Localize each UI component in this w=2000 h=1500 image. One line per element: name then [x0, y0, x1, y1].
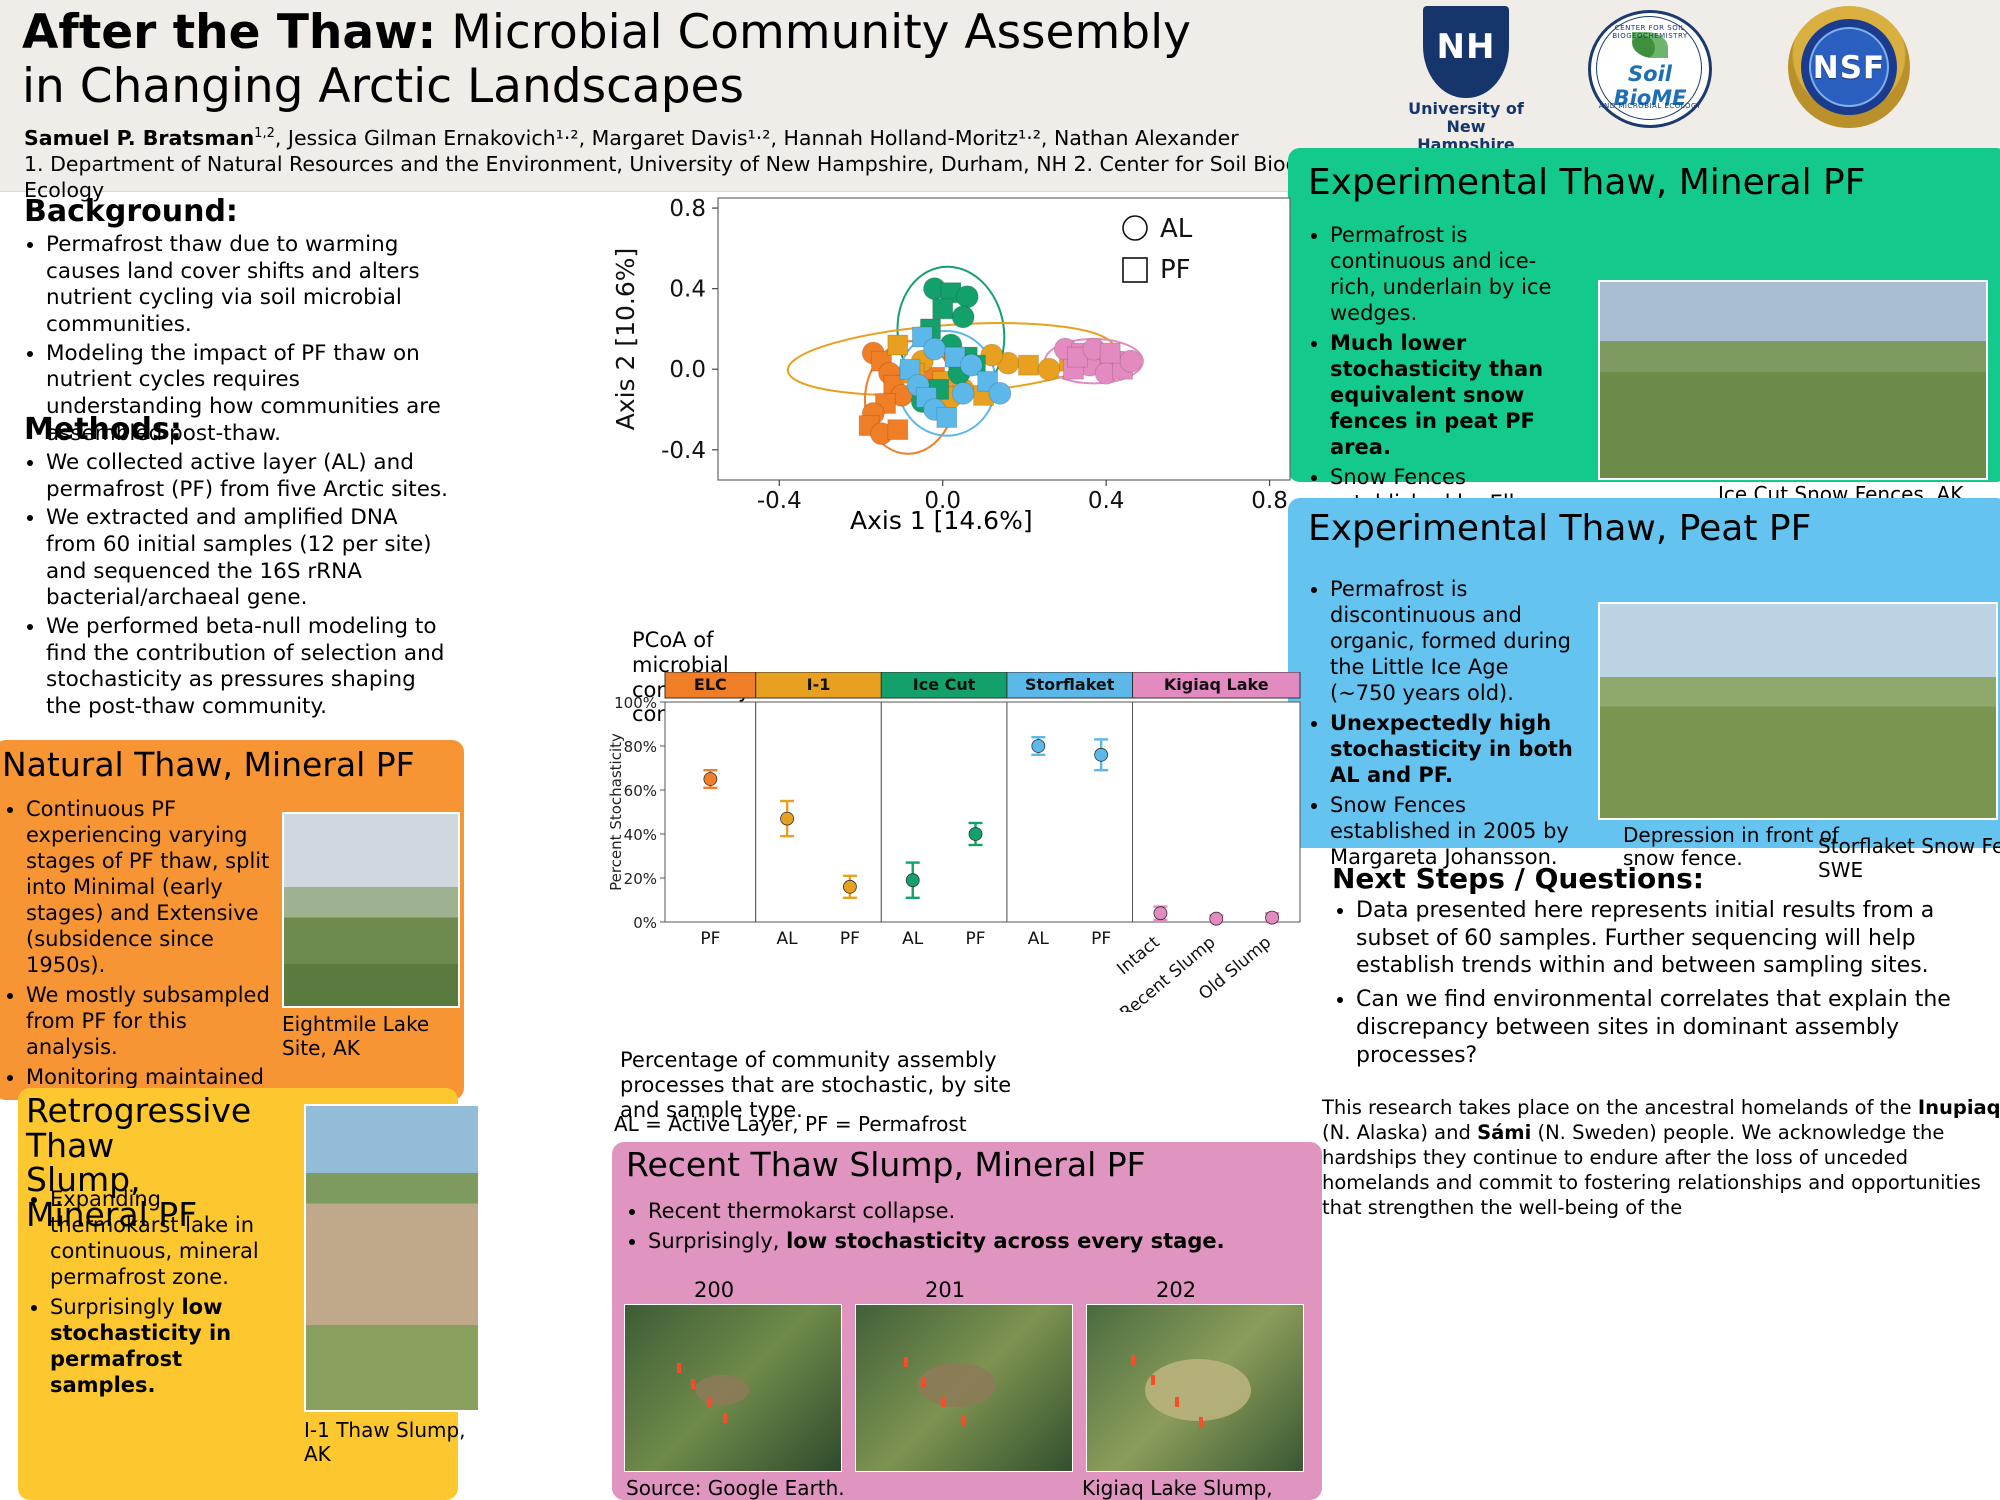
svg-text:PF: PF [1160, 255, 1191, 285]
methods-list: We collected active layer (AL) and perma… [24, 449, 454, 721]
unh-shield-icon: NH [1423, 6, 1509, 98]
svg-text:Kigiaq Lake: Kigiaq Lake [1164, 675, 1269, 694]
svg-text:-0.4: -0.4 [661, 438, 706, 464]
experimental-peat-heading: Experimental Thaw, Peat PF [1308, 510, 1948, 548]
page-title-line2: in Changing Arctic Landscapes [22, 62, 1422, 113]
google-earth-image-2 [855, 1304, 1073, 1472]
svg-text:AL: AL [902, 929, 924, 949]
stochasticity-chart: 0%20%40%60%80%100%Percent StochasticityE… [595, 672, 1305, 1032]
google-earth-image-1 [624, 1304, 842, 1472]
kigiaq-lake-caption: Kigiaq Lake Slump, [1082, 1476, 1273, 1500]
next-steps-heading: Next Steps / Questions: [1332, 862, 2000, 895]
next-steps-section: Next Steps / Questions: Data presented h… [1332, 862, 2000, 1075]
ack-bold-1: Inupiaq [1918, 1096, 2000, 1119]
title-rest: Microbial Community Assembly [436, 5, 1191, 60]
svg-text:PF: PF [1091, 929, 1111, 949]
svg-text:80%: 80% [624, 738, 657, 756]
soil-biome-logo: CENTER FOR SOIL BIOGEOCHEMISTRY Soil Bio… [1588, 10, 1712, 128]
soil-biome-bottom-text: AND MICROBIAL ECOLOGY [1588, 102, 1712, 110]
list-item: We collected active layer (AL) and perma… [46, 449, 454, 503]
ack-part-2: (N. Alaska) and [1322, 1121, 1477, 1144]
nsf-wordmark: NSF [1788, 50, 1910, 86]
title-bold: After the Thaw: [22, 5, 436, 60]
svg-text:AL: AL [777, 929, 799, 949]
svg-text:Ice Cut: Ice Cut [913, 675, 976, 694]
svg-text:0.4: 0.4 [1088, 488, 1125, 514]
retrogressive-list: Expanding thermokarst lake in continuous… [28, 1186, 288, 1402]
svg-text:Intact: Intact [1113, 932, 1164, 979]
list-item: Surprisingly, low stochasticity across e… [648, 1228, 1316, 1254]
pcoa-svg: -0.40.00.40.8-0.40.00.40.8Axis 2 [10.6%]… [600, 190, 1300, 520]
svg-text:Axis 2 [10.6%]: Axis 2 [10.6%] [611, 248, 640, 431]
author-rest: , Jessica Gilman Ernakovich¹·², Margaret… [275, 126, 1239, 150]
list-item: Permafrost is continuous and ice-rich, u… [1330, 222, 1578, 326]
list-item: We performed beta-null modeling to find … [46, 613, 454, 721]
ge-year-label: 202 [1156, 1278, 1196, 1302]
storflaket-photo [1598, 602, 1998, 820]
list-item: Recent thermokarst collapse. [648, 1198, 1316, 1224]
methods-section: Methods: We collected active layer (AL) … [24, 412, 454, 722]
recent-slump-heading: Recent Thaw Slump, Mineral PF [626, 1148, 1146, 1183]
list-item: Snow Fences established in 2005 by Marga… [1330, 792, 1578, 870]
experimental-mineral-panel: Experimental Thaw, Mineral PF Permafrost… [1288, 148, 2000, 482]
natural-thaw-panel: Natural Thaw, Mineral PF Continuous PF e… [0, 740, 464, 1100]
ice-cut-photo [1598, 280, 1988, 480]
next-steps-list: Data presented here represents initial r… [1332, 897, 2000, 1069]
i1-thaw-slump-caption: I-1 Thaw Slump, AK [304, 1418, 494, 1466]
list-item: Permafrost thaw due to warming causes la… [46, 231, 444, 339]
svg-text:0%: 0% [633, 914, 657, 932]
recent-slump-list: Recent thermokarst collapse. Surprisingl… [626, 1198, 1316, 1258]
experimental-peat-list: Permafrost is discontinuous and organic,… [1308, 576, 1578, 874]
retrogressive-thaw-panel: Retrogressive Thaw Slump, Mineral PF Exp… [18, 1088, 458, 1500]
eightmile-lake-photo [282, 812, 460, 1008]
google-earth-source: Source: Google Earth. [626, 1476, 845, 1500]
ack-part-1: This research takes place on the ancestr… [1322, 1096, 1918, 1119]
natural-thaw-list: Continuous PF experiencing varying stage… [4, 796, 274, 1120]
pcoa-chart: -0.40.00.40.8-0.40.00.40.8Axis 2 [10.6%]… [600, 190, 1300, 540]
list-item: We mostly subsampled from PF for this an… [26, 982, 274, 1060]
background-section: Background: Permafrost thaw due to warmi… [24, 194, 444, 448]
svg-text:PF: PF [700, 929, 720, 949]
list-item: Expanding thermokarst lake in continuous… [50, 1186, 288, 1290]
svg-text:I-1: I-1 [807, 675, 831, 694]
methods-heading: Methods: [24, 412, 454, 447]
eightmile-lake-caption: Eightmile Lake Site, AK [282, 1012, 472, 1060]
list-item: Unexpectedly high stochasticity in both … [1330, 710, 1578, 788]
svg-text:ELC: ELC [694, 675, 727, 694]
stochasticity-svg: 0%20%40%60%80%100%Percent StochasticityE… [595, 672, 1305, 1012]
i1-thaw-slump-photo [304, 1104, 480, 1412]
list-item: Much lower stochasticity than equivalent… [1330, 330, 1578, 460]
google-earth-image-3 [1086, 1304, 1304, 1472]
experimental-mineral-heading: Experimental Thaw, Mineral PF [1308, 164, 1865, 202]
unh-logo: NH University of New Hampshire [1405, 6, 1527, 130]
recent-slump-panel: Recent Thaw Slump, Mineral PF Recent the… [612, 1142, 1322, 1500]
nsf-logo: NSF [1788, 6, 1910, 128]
ge-year-label: 200 [694, 1278, 734, 1302]
page-title: After the Thaw: Microbial Community Asse… [22, 8, 1422, 59]
acknowledgement-text: This research takes place on the ancestr… [1322, 1096, 2000, 1221]
stochasticity-legend-note: AL = Active Layer, PF = Permafrost [614, 1112, 967, 1136]
svg-text:40%: 40% [624, 826, 657, 844]
soil-biome-top-text: CENTER FOR SOIL BIOGEOCHEMISTRY [1588, 24, 1712, 40]
list-item: Can we find environmental correlates tha… [1356, 986, 2000, 1069]
svg-text:AL: AL [1160, 214, 1193, 244]
svg-text:0.8: 0.8 [1251, 488, 1288, 514]
svg-text:100%: 100% [614, 694, 657, 712]
list-item: Surprisingly low stochasticity in permaf… [50, 1294, 288, 1398]
svg-text:60%: 60% [624, 782, 657, 800]
svg-text:Percent Stochasticity: Percent Stochasticity [607, 733, 625, 891]
svg-text:-0.4: -0.4 [757, 488, 802, 514]
author-superscript: 1,2 [254, 126, 275, 141]
unh-logo-label: University of New Hampshire [1405, 100, 1527, 154]
background-heading: Background: [24, 194, 444, 229]
svg-text:Storflaket: Storflaket [1025, 675, 1115, 694]
svg-text:0.0: 0.0 [669, 357, 706, 383]
svg-text:0.4: 0.4 [669, 277, 706, 303]
svg-text:PF: PF [840, 929, 860, 949]
ack-bold-2: Sámi [1477, 1121, 1531, 1144]
svg-text:20%: 20% [624, 870, 657, 888]
list-item: Permafrost is discontinuous and organic,… [1330, 576, 1578, 706]
svg-text:AL: AL [1028, 929, 1050, 949]
first-author: Samuel P. Bratsman [24, 126, 254, 150]
pcoa-xlabel: Axis 1 [14.6%] [850, 506, 1033, 535]
ge-year-label: 201 [925, 1278, 965, 1302]
list-item: Data presented here represents initial r… [1356, 897, 2000, 980]
list-item: We extracted and amplified DNA from 60 i… [46, 504, 454, 612]
svg-text:PF: PF [966, 929, 986, 949]
list-item: Continuous PF experiencing varying stage… [26, 796, 274, 978]
experimental-peat-panel: Experimental Thaw, Peat PF Permafrost is… [1288, 498, 2000, 848]
natural-thaw-heading: Natural Thaw, Mineral PF [2, 748, 415, 783]
svg-text:0.8: 0.8 [669, 196, 706, 222]
